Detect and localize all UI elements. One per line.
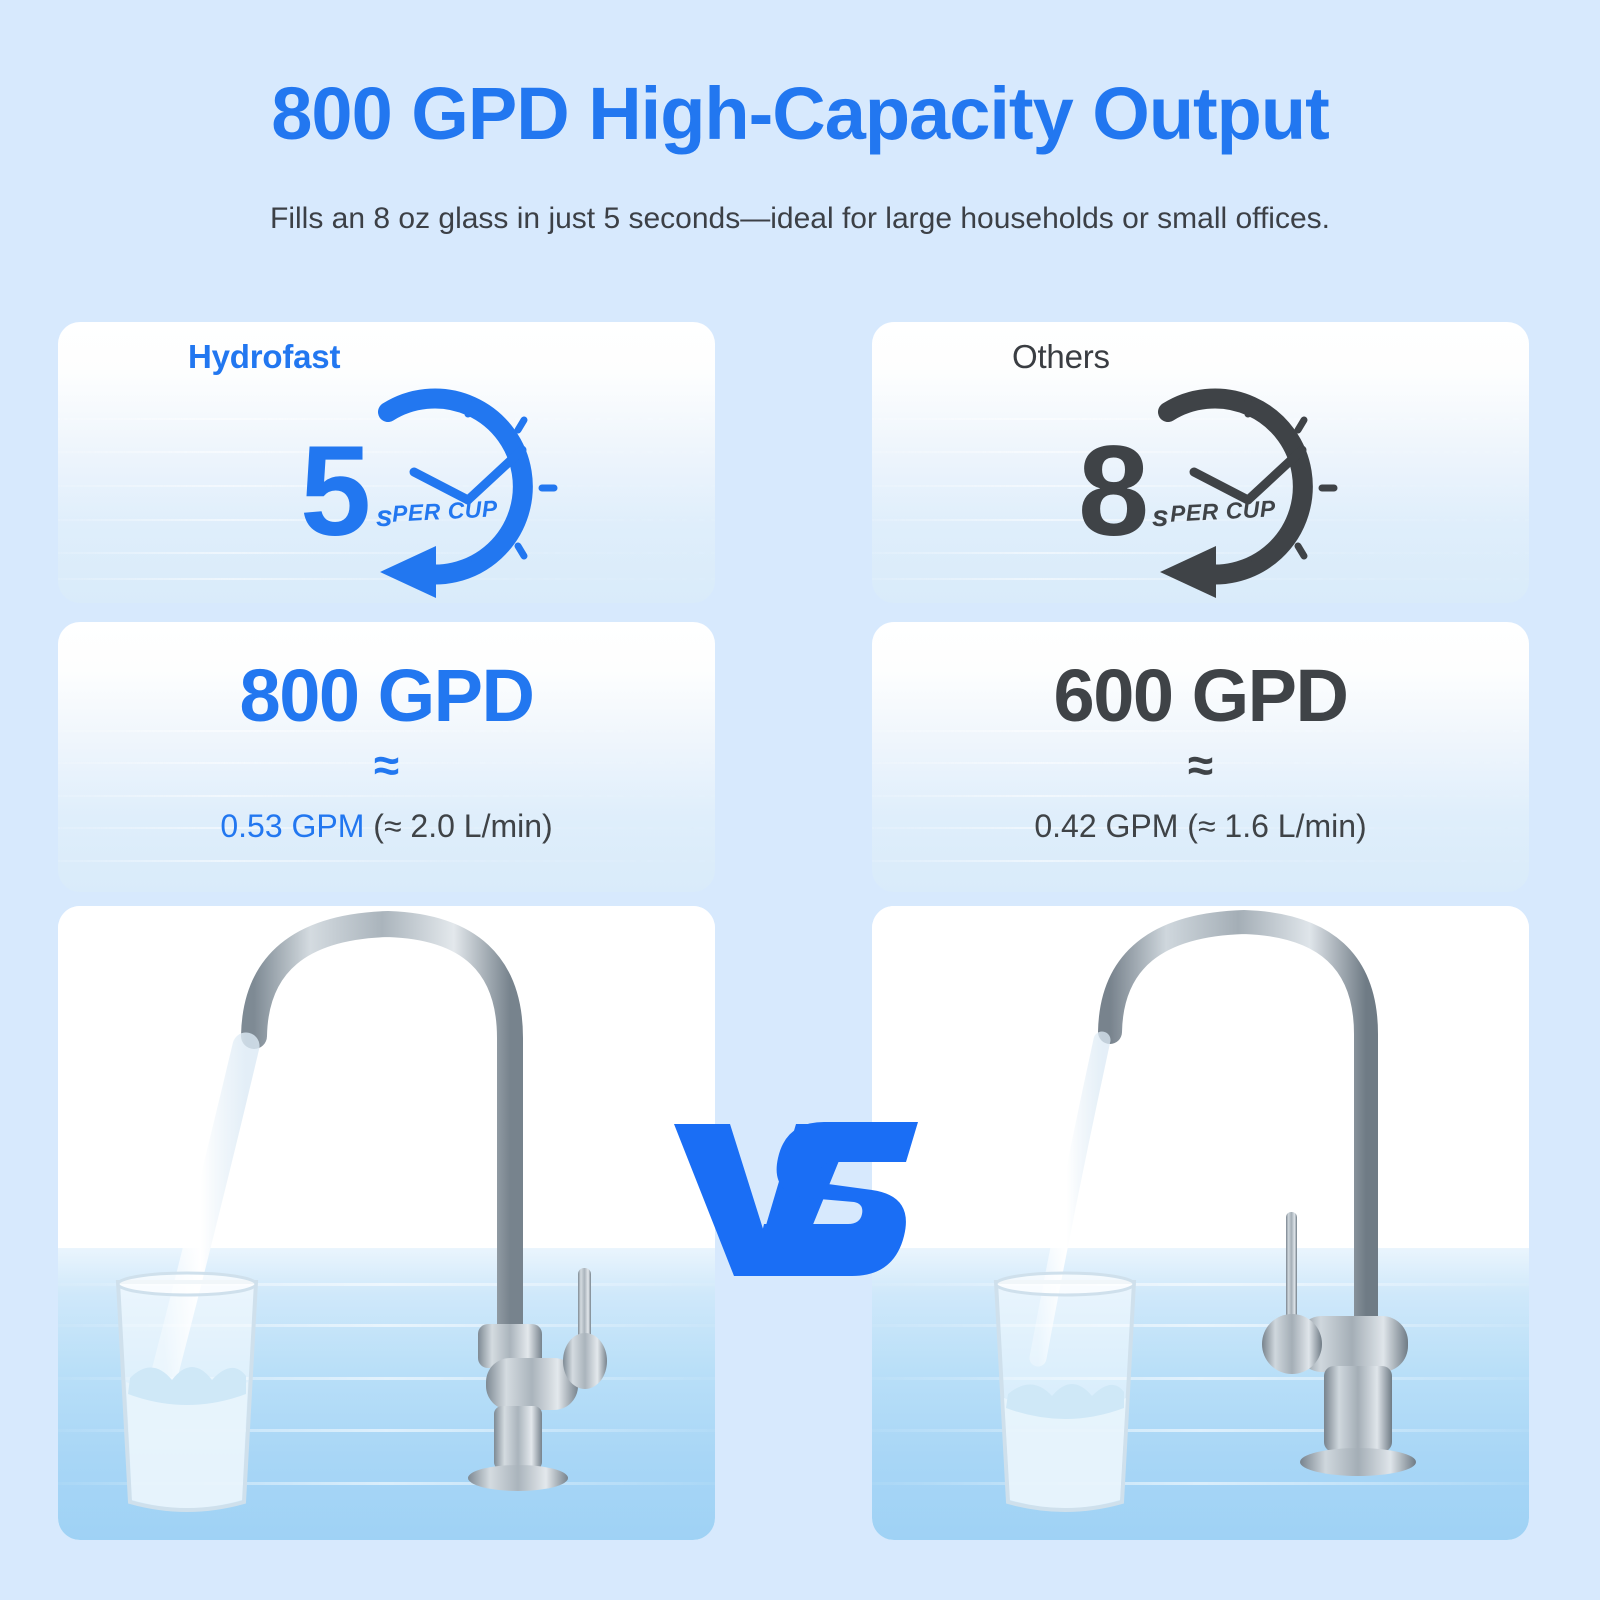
water-glass-icon bbox=[92, 1270, 282, 1520]
infographic-page: 800 GPD High-Capacity Output Fills an 8 … bbox=[0, 0, 1600, 1600]
timer-seconds-hydrofast: 5 bbox=[300, 428, 367, 556]
timer-seconds-others: 8 bbox=[1078, 428, 1145, 556]
capacity-value-hydrofast: 800 GPD bbox=[58, 653, 715, 738]
flow-rate-metric-hydrofast: (≈ 2.0 L/min) bbox=[373, 808, 552, 844]
product-photo-others bbox=[872, 906, 1529, 1540]
product-photo-hydrofast bbox=[58, 906, 715, 1540]
timer-unit-hydrofast: s bbox=[376, 500, 393, 534]
timer-per-cup-others: PER CUP bbox=[1169, 495, 1276, 527]
approx-symbol-hydrofast: ≈ bbox=[58, 742, 715, 788]
brand-label-others: Others bbox=[1012, 338, 1110, 376]
page-subtitle: Fills an 8 oz glass in just 5 seconds—id… bbox=[220, 196, 1380, 242]
flow-rate-metric-others: (≈ 1.6 L/min) bbox=[1187, 808, 1366, 844]
water-glass-icon bbox=[970, 1270, 1160, 1520]
faucet-scene-thin-stream bbox=[872, 906, 1529, 1540]
flow-rate-value-hydrofast: 0.53 GPM bbox=[220, 808, 364, 844]
timer-per-cup-hydrofast: PER CUP bbox=[391, 495, 498, 527]
brand-label-hydrofast: Hydrofast bbox=[188, 338, 340, 376]
vs-badge bbox=[668, 1100, 932, 1280]
approx-symbol-others: ≈ bbox=[872, 742, 1529, 788]
flow-rate-others: 0.42 GPM (≈ 1.6 L/min) bbox=[872, 808, 1529, 845]
flow-rate-hydrofast: 0.53 GPM (≈ 2.0 L/min) bbox=[58, 808, 715, 845]
capacity-value-others: 600 GPD bbox=[872, 653, 1529, 738]
page-title: 800 GPD High-Capacity Output bbox=[0, 74, 1600, 154]
timer-unit-others: s bbox=[1152, 500, 1169, 534]
flow-rate-value-others: 0.42 GPM bbox=[1034, 808, 1178, 844]
faucet-scene-strong-stream bbox=[58, 906, 715, 1540]
